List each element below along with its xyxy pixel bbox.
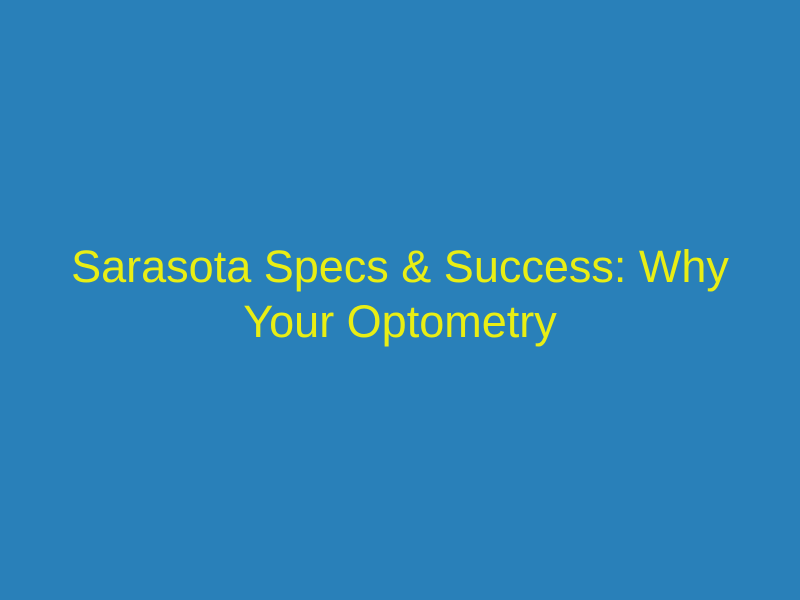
page-title: Sarasota Specs & Success: Why Your Optom… [70, 239, 730, 349]
title-block: Sarasota Specs & Success: Why Your Optom… [70, 239, 730, 349]
slide-canvas: Sarasota Specs & Success: Why Your Optom… [0, 0, 800, 600]
